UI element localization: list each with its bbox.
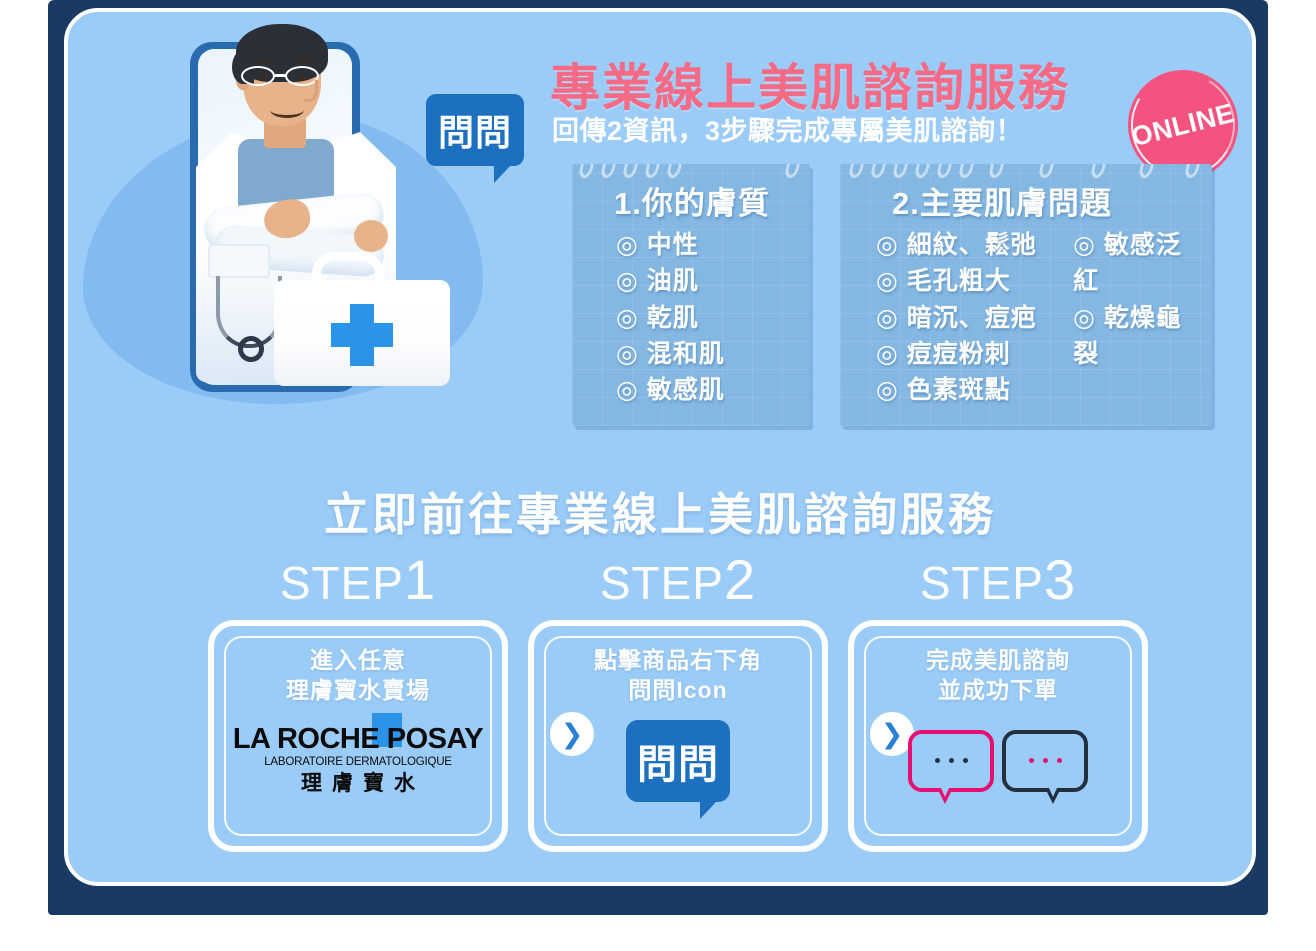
step-1: STEP1 進入任意 理膚寶水賣場 LA ROCHE POSAY LABORAT… — [208, 552, 508, 852]
doctor-eye-left — [259, 74, 265, 81]
note-card-skin-problem: 2.主要肌膚問題 ◎ 細紋、鬆弛 ◎ 毛孔粗大 ◎ 暗沉、痘疤 ◎ 痘痘粉刺 ◎… — [840, 164, 1212, 426]
step-2-line-2: 問問Icon — [534, 676, 822, 706]
step-3-label: STEP3 — [848, 552, 1148, 608]
logo-tagline: LABORATOIRE DERMATOLOGIQUE — [233, 754, 483, 770]
step-1-card[interactable]: 進入任意 理膚寶水賣場 LA ROCHE POSAY LABORATOIRE D… — [208, 620, 508, 852]
list-item: ◎ 痘痘粉刺 — [876, 336, 1067, 372]
step-2-description: 點擊商品右下角 問問Icon — [534, 626, 822, 706]
wenwen-bubble-label: 問問 — [426, 94, 524, 166]
step-number: 2 — [724, 548, 756, 611]
online-badge-label: ONLINE — [1128, 97, 1237, 152]
step-2: STEP2 點擊商品右下角 問問Icon 問問 — [528, 552, 828, 852]
doctor-smile — [270, 102, 304, 118]
logo-chinese-name: 理膚寶水 — [233, 770, 483, 797]
step-3-card[interactable]: 完成美肌諮詢 並成功下單 — [848, 620, 1148, 852]
step-1-line-2: 理膚寶水賣場 — [214, 676, 502, 706]
list-item: ◎ 中性 — [616, 227, 800, 263]
logo-brand-name: LA ROCHE POSAY — [233, 725, 483, 754]
list-item: ◎ 暗沉、痘疤 — [876, 300, 1067, 336]
step-label-text: STEP — [600, 557, 724, 609]
list-item: ◎ 油肌 — [616, 263, 800, 299]
step-label-text: STEP — [920, 557, 1044, 609]
cta-heading: 立即前往專業線上美肌諮詢服務 — [68, 478, 1252, 543]
list-item: ◎ 乾燥龜裂 — [1073, 300, 1202, 373]
glasses-lens-left — [241, 66, 275, 86]
banner-frame: 問問 專業線上美肌諮詢服務 回傳2資訊，3步驟完成專屬美肌諮詢！ ONLINE … — [48, 0, 1268, 915]
step-2-card[interactable]: 點擊商品右下角 問問Icon 問問 — [528, 620, 828, 852]
page-subtitle: 回傳2資訊，3步驟完成專屬美肌諮詢！ — [552, 109, 1172, 148]
lab-coat-pocket — [208, 244, 270, 278]
note-card-skin-type: 1.你的膚質 ◎ 中性 ◎ 油肌 ◎ 乾肌 ◎ 混和肌 ◎ 敏感肌 — [572, 164, 810, 426]
list-item: ◎ 敏感泛紅 — [1073, 227, 1202, 300]
step-2-line-1: 點擊商品右下角 — [534, 646, 822, 676]
wenwen-icon: 問問 — [626, 720, 730, 802]
list-item: ◎ 混和肌 — [616, 336, 800, 372]
skin-problem-list-column-1: ◎ 細紋、鬆弛 ◎ 毛孔粗大 ◎ 暗沉、痘疤 ◎ 痘痘粉刺 ◎ 色素斑點 — [876, 227, 1067, 408]
la-roche-posay-logo: LA ROCHE POSAY LABORATOIRE DERMATOLOGIQU… — [233, 725, 483, 797]
note-card-title: 1.你的膚質 — [594, 178, 800, 223]
dot — [935, 758, 940, 763]
wenwen-speech-bubble-icon: 問問 — [426, 94, 524, 166]
chat-bubbles-group — [908, 730, 1088, 792]
skin-problem-list-column-2: ◎ 敏感泛紅 ◎ 乾燥龜裂 — [1073, 227, 1202, 408]
medical-cross-icon-horizontal — [331, 323, 393, 347]
chat-bubble-pink-icon — [908, 730, 994, 792]
dot — [963, 758, 968, 763]
steps-section: STEP1 進入任意 理膚寶水賣場 LA ROCHE POSAY LABORAT… — [68, 552, 1252, 882]
dot — [1043, 758, 1048, 763]
doctor-hand-right — [354, 220, 388, 252]
step-2-label: STEP2 — [528, 552, 828, 608]
note-card-title: 2.主要肌膚問題 — [862, 178, 1202, 223]
doctor-illustration: 問問 — [78, 8, 518, 434]
dot — [1057, 758, 1062, 763]
doctor-eyebrow-right — [294, 59, 316, 66]
stethoscope-bell-icon — [238, 336, 264, 362]
step-3-line-1: 完成美肌諮詢 — [854, 646, 1142, 676]
list-item: ◎ 細紋、鬆弛 — [876, 227, 1067, 263]
step-3: STEP3 完成美肌諮詢 並成功下單 — [848, 552, 1148, 852]
list-item: ◎ 毛孔粗大 — [876, 263, 1067, 299]
dot — [1029, 758, 1034, 763]
step-1-description: 進入任意 理膚寶水賣場 — [214, 626, 502, 706]
skin-type-list: ◎ 中性 ◎ 油肌 ◎ 乾肌 ◎ 混和肌 ◎ 敏感肌 — [594, 227, 800, 408]
banner-panel: 問問 專業線上美肌諮詢服務 回傳2資訊，3步驟完成專屬美肌諮詢！ ONLINE … — [64, 8, 1256, 886]
list-item: ◎ 色素斑點 — [876, 372, 1067, 408]
step-1-line-1: 進入任意 — [214, 646, 502, 676]
dot — [949, 758, 954, 763]
step-number: 3 — [1044, 548, 1076, 611]
chat-bubble-navy-icon — [1002, 730, 1088, 792]
step-3-line-2: 並成功下單 — [854, 676, 1142, 706]
list-item: ◎ 敏感肌 — [616, 372, 800, 408]
step-3-description: 完成美肌諮詢 並成功下單 — [854, 626, 1142, 706]
step-1-label: STEP1 — [208, 552, 508, 608]
list-item: ◎ 乾肌 — [616, 300, 800, 336]
step-label-text: STEP — [280, 557, 404, 609]
step-2-visual: 問問 — [534, 706, 822, 816]
step-3-visual — [854, 706, 1142, 816]
step-1-visual: LA ROCHE POSAY LABORATOIRE DERMATOLOGIQU… — [214, 706, 502, 816]
step-number: 1 — [404, 548, 436, 611]
doctor-eyebrow-left — [253, 59, 275, 66]
